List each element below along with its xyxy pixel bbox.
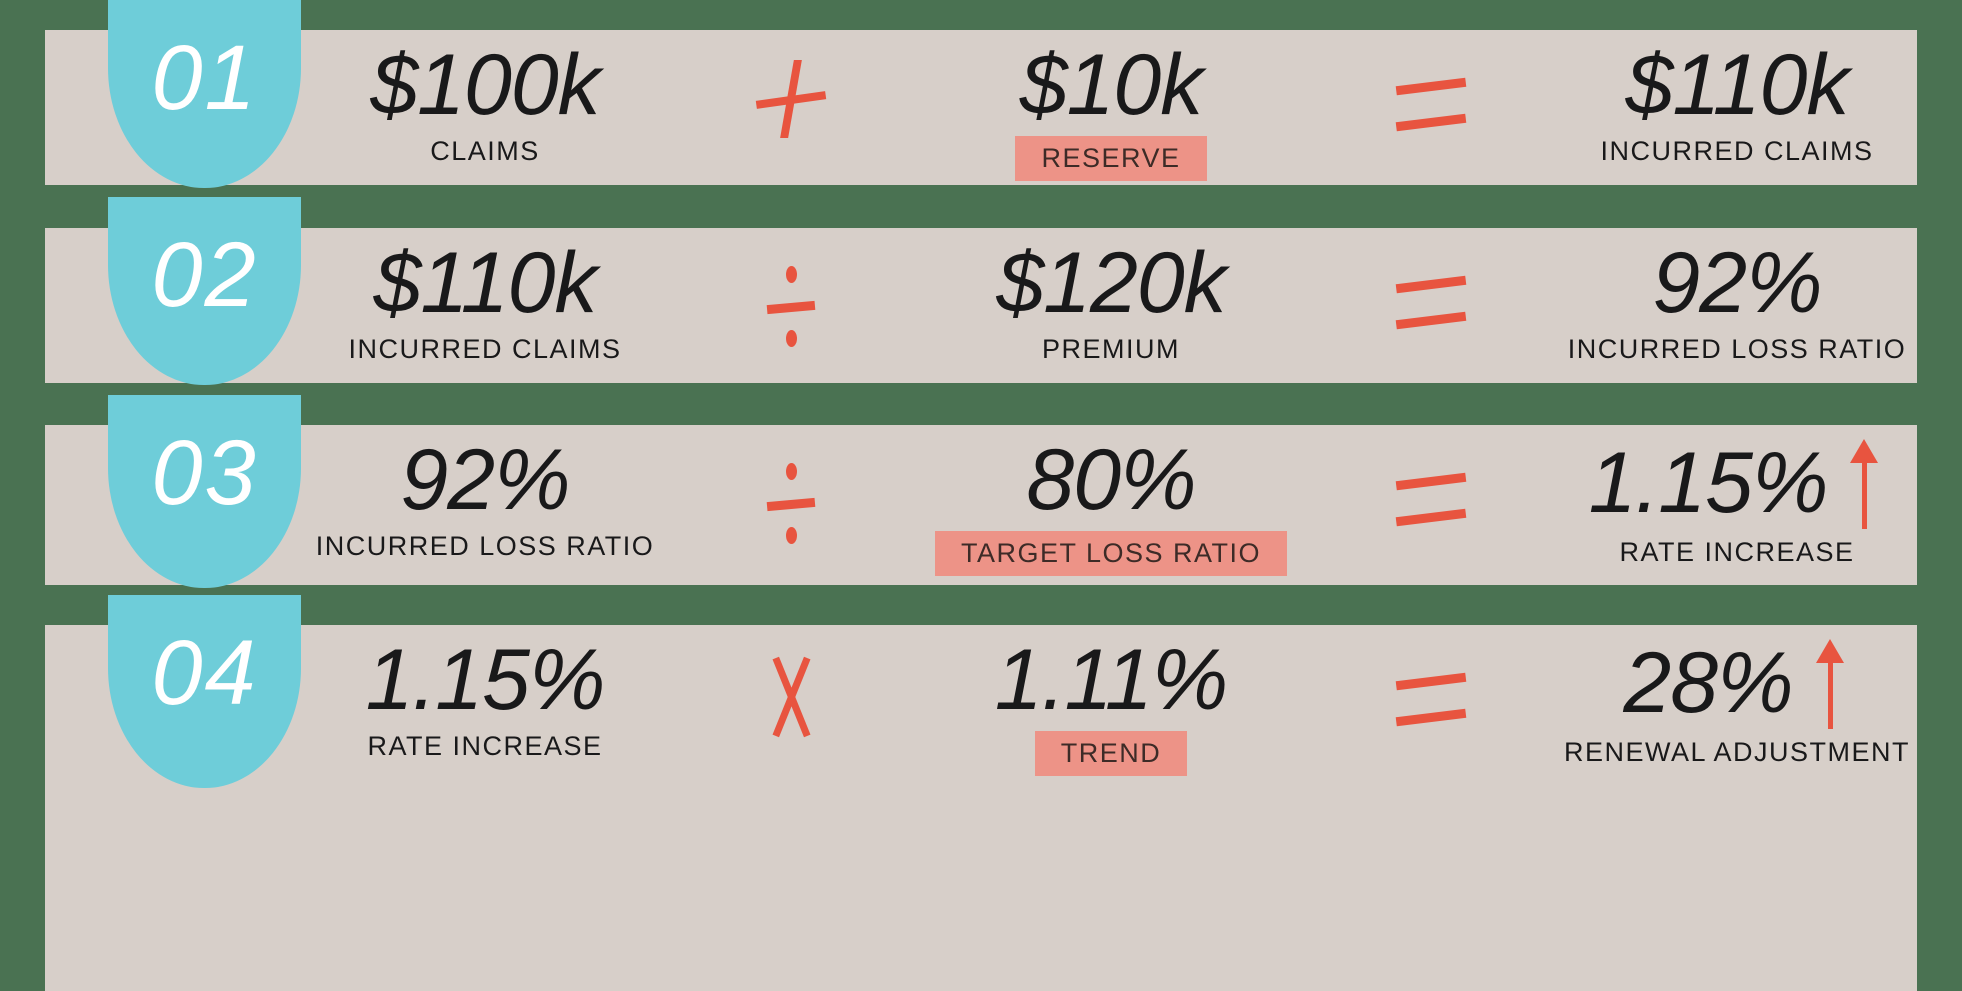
term-middle-4: 1.11% TREND: [946, 637, 1276, 776]
equation-4: 1.15% RATE INCREASE 1.11% TREND 28%: [335, 625, 1887, 991]
term-left-4-value-row: 1.15%: [366, 637, 605, 723]
step-badge-2-number: 02: [151, 229, 257, 321]
term-right-2-value: 92%: [1652, 240, 1821, 326]
term-middle-1-value: $10k: [1020, 42, 1203, 128]
term-left-2-value: $110k: [374, 240, 597, 326]
term-right-4-caption: RENEWAL ADJUSTMENT: [1564, 737, 1910, 768]
multiply-icon: [760, 655, 822, 739]
operator-divide-2: [731, 240, 851, 356]
term-left-1-value-row: $100k: [370, 42, 599, 128]
term-right-3: 1.15% RATE INCREASE: [1587, 437, 1887, 568]
term-middle-3-value-row: 80%: [1026, 437, 1195, 523]
operator-equals-1: [1372, 42, 1492, 140]
term-right-1-value: $110k: [1626, 42, 1849, 128]
step-badge-1-number: 01: [151, 32, 257, 124]
step-row-2: $110k INCURRED CLAIMS $120k PREMIUM: [45, 228, 1917, 383]
term-right-3-value-row: 1.15%: [1589, 437, 1886, 529]
term-left-3: 92% INCURRED LOSS RATIO: [335, 437, 635, 562]
term-left-2-value-row: $110k: [374, 240, 597, 326]
term-middle-4-caption: TREND: [1035, 731, 1188, 776]
term-right-2-value-row: 92%: [1652, 240, 1821, 326]
term-middle-2-value-row: $120k: [996, 240, 1225, 326]
divide-icon: [767, 258, 815, 356]
term-middle-2-caption: PREMIUM: [1042, 334, 1180, 365]
term-right-2: 92% INCURRED LOSS RATIO: [1587, 240, 1887, 365]
term-middle-3-caption: TARGET LOSS RATIO: [935, 531, 1287, 576]
term-middle-1: $10k RESERVE: [946, 42, 1276, 181]
equation-2: $110k INCURRED CLAIMS $120k PREMIUM: [335, 228, 1887, 383]
term-left-3-value-row: 92%: [400, 437, 569, 523]
term-right-4-value: 28%: [1623, 640, 1792, 726]
term-right-4: 28% RENEWAL ADJUSTMENT: [1587, 637, 1887, 768]
term-middle-4-value-row: 1.11%: [995, 637, 1227, 723]
plus-icon: [755, 60, 827, 138]
term-left-2-caption: INCURRED CLAIMS: [348, 334, 621, 365]
step-badge-4-number: 04: [151, 627, 257, 719]
step-row-1: $100k CLAIMS $10k RESERVE $110k I: [45, 30, 1917, 185]
infographic-canvas: $100k CLAIMS $10k RESERVE $110k I: [0, 0, 1962, 991]
term-right-1-caption: INCURRED CLAIMS: [1600, 136, 1873, 167]
equation-1: $100k CLAIMS $10k RESERVE $110k I: [335, 30, 1887, 185]
divide-icon: [767, 455, 815, 553]
term-middle-1-caption: RESERVE: [1015, 136, 1206, 181]
term-left-1-caption: CLAIMS: [430, 136, 540, 167]
operator-multiply-4: [731, 637, 851, 739]
term-left-4-value: 1.15%: [366, 637, 605, 723]
term-right-1: $110k INCURRED CLAIMS: [1587, 42, 1887, 167]
term-middle-2-value: $120k: [996, 240, 1225, 326]
term-left-4: 1.15% RATE INCREASE: [335, 637, 635, 762]
operator-equals-2: [1372, 240, 1492, 338]
term-left-1: $100k CLAIMS: [335, 42, 635, 167]
term-right-1-value-row: $110k: [1626, 42, 1849, 128]
term-left-1-value: $100k: [370, 42, 599, 128]
equation-3: 92% INCURRED LOSS RATIO 80% TARGET LOSS …: [335, 425, 1887, 585]
term-left-3-caption: INCURRED LOSS RATIO: [316, 531, 655, 562]
term-left-3-value: 92%: [400, 437, 569, 523]
equals-icon: [1394, 455, 1470, 535]
term-middle-2: $120k PREMIUM: [946, 240, 1276, 365]
operator-divide-3: [731, 437, 851, 553]
equals-icon: [1394, 258, 1470, 338]
term-middle-4-value: 1.11%: [995, 637, 1227, 723]
term-right-3-value: 1.15%: [1589, 440, 1828, 526]
term-middle-3: 80% TARGET LOSS RATIO: [946, 437, 1276, 576]
equals-icon: [1394, 655, 1470, 735]
operator-equals-3: [1372, 437, 1492, 535]
term-right-2-caption: INCURRED LOSS RATIO: [1568, 334, 1907, 365]
arrow-up-icon: [1843, 437, 1885, 529]
operator-equals-4: [1372, 637, 1492, 735]
term-right-3-caption: RATE INCREASE: [1619, 537, 1854, 568]
operator-plus-1: [731, 42, 851, 138]
step-row-3: 92% INCURRED LOSS RATIO 80% TARGET LOSS …: [45, 425, 1917, 585]
term-left-4-caption: RATE INCREASE: [367, 731, 602, 762]
step-badge-3-number: 03: [151, 427, 257, 519]
term-middle-3-value: 80%: [1026, 437, 1195, 523]
term-left-2: $110k INCURRED CLAIMS: [335, 240, 635, 365]
term-right-4-value-row: 28%: [1623, 637, 1850, 729]
step-row-4: 1.15% RATE INCREASE 1.11% TREND 28%: [45, 625, 1917, 991]
arrow-up-icon: [1809, 637, 1851, 729]
term-middle-1-value-row: $10k: [1020, 42, 1203, 128]
equals-icon: [1394, 60, 1470, 140]
